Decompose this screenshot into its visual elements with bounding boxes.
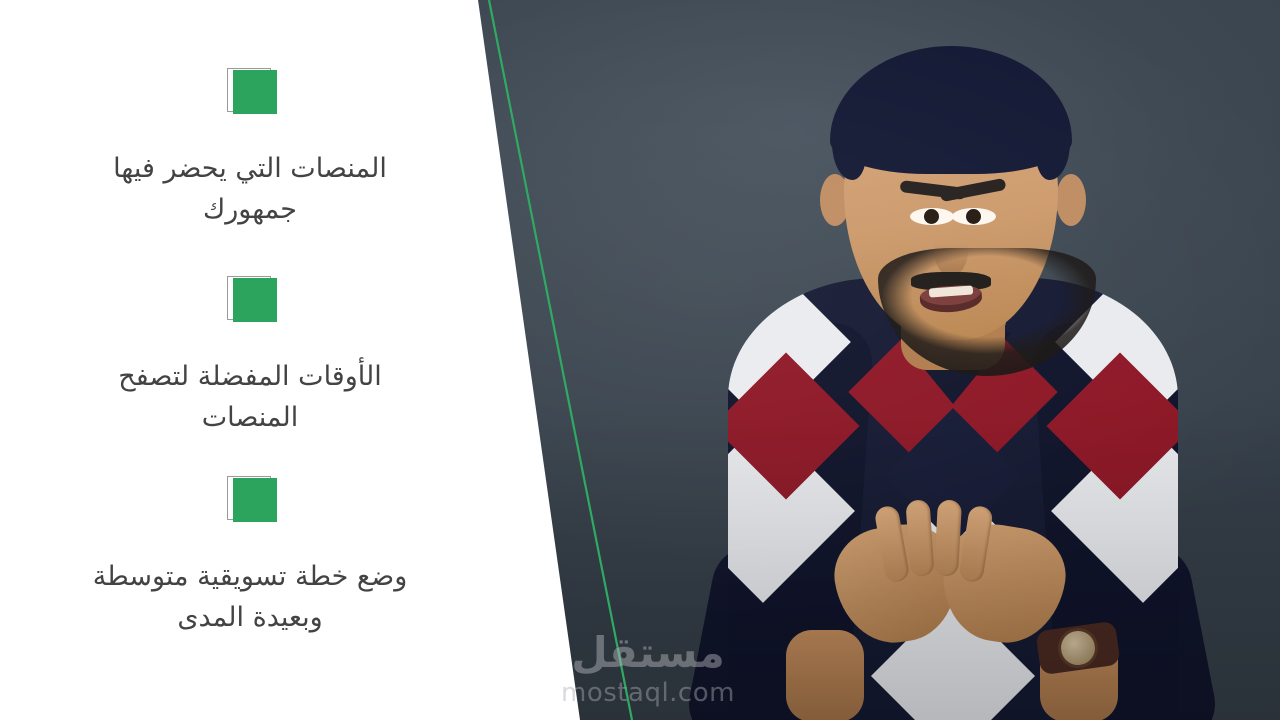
bullet-list: المنصات التي يحضر فيها جمهورك الأوقات ال… [0,0,500,720]
bullet-text-2: الأوقات المفضلة لتصفح المنصات [0,356,500,438]
nose [934,222,968,276]
head [808,46,1098,346]
slide-stage: المنصات التي يحضر فيها جمهورك الأوقات ال… [0,0,1280,720]
list-item: الأوقات المفضلة لتصفح المنصات [0,276,500,438]
bullet-text-1: المنصات التي يحضر فيها جمهورك [0,148,500,230]
clasped-hands [840,500,1060,660]
hair [830,46,1072,174]
green-square-bullet-icon [227,276,273,322]
green-square-bullet-icon [227,68,273,114]
list-item: المنصات التي يحضر فيها جمهورك [0,68,500,230]
list-item: وضع خطة تسويقية متوسطة وبعيدة المدى [0,476,500,638]
presenter-figure [690,30,1210,720]
right-ear [1056,174,1086,226]
green-square-bullet-icon [227,476,273,522]
right-eyebrow [939,178,1006,202]
bullet-text-3: وضع خطة تسويقية متوسطة وبعيدة المدى [0,556,500,638]
